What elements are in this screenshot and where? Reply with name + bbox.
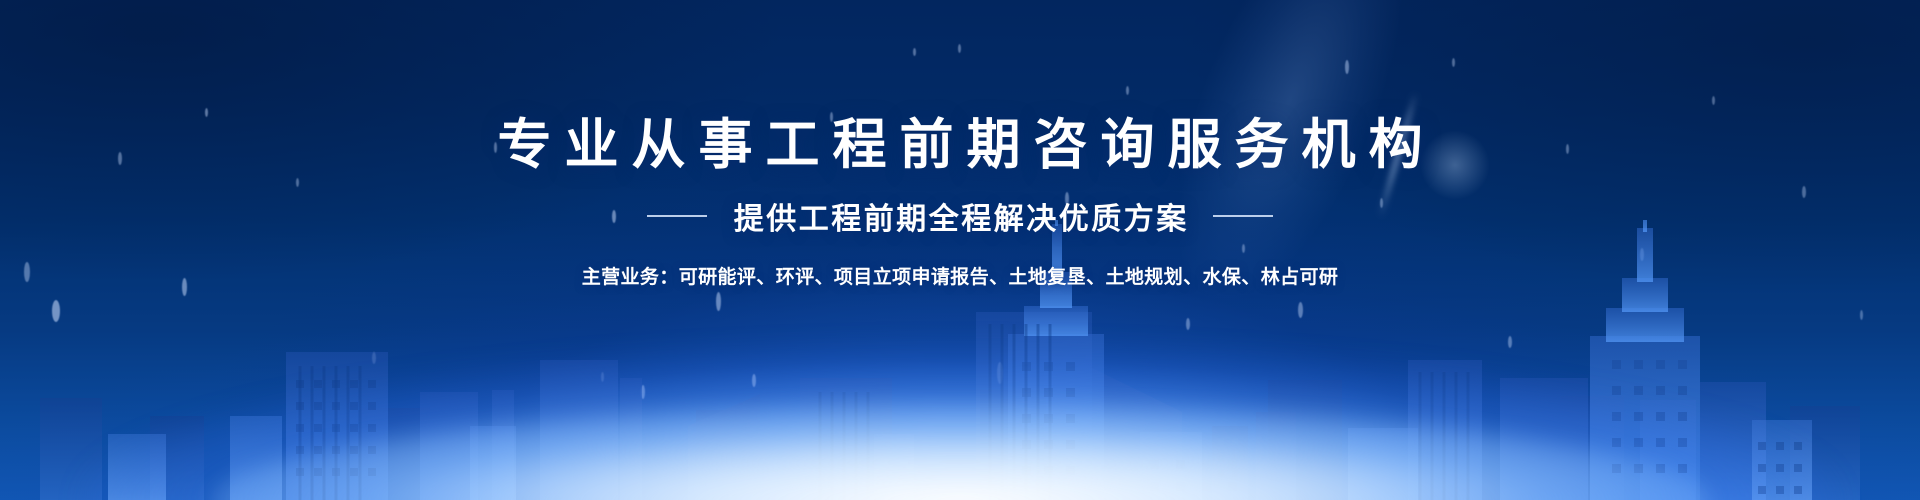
rule-left-icon (647, 215, 707, 217)
star-particle (1298, 302, 1303, 318)
star-particle (1860, 310, 1863, 320)
star-particle (716, 292, 721, 311)
star-particle (1186, 318, 1190, 330)
star-particle (997, 362, 1003, 384)
star-particle (52, 300, 60, 322)
banner-content: 专业从事工程前期咨询服务机构 提供工程前期全程解决优质方案 主营业务：可研能评、… (0, 0, 1920, 289)
horizon-rim (210, 406, 1710, 500)
star-particle (1508, 336, 1512, 348)
promo-banner: 专业从事工程前期咨询服务机构 提供工程前期全程解决优质方案 主营业务：可研能评、… (0, 0, 1920, 500)
page-subtitle: 提供工程前期全程解决优质方案 (731, 194, 1189, 238)
subtitle-row: 提供工程前期全程解决优质方案 (0, 194, 1920, 238)
business-scope-text: 主营业务：可研能评、环评、项目立项申请报告、土地复垦、土地规划、水保、林占可研 (0, 262, 1920, 289)
star-particle (752, 374, 756, 387)
horizon-glow (85, 350, 1835, 500)
star-particle (601, 372, 604, 382)
star-particle (372, 352, 376, 364)
rule-right-icon (1213, 215, 1273, 217)
star-particle (641, 385, 645, 399)
page-title: 专业从事工程前期咨询服务机构 (0, 0, 1920, 178)
